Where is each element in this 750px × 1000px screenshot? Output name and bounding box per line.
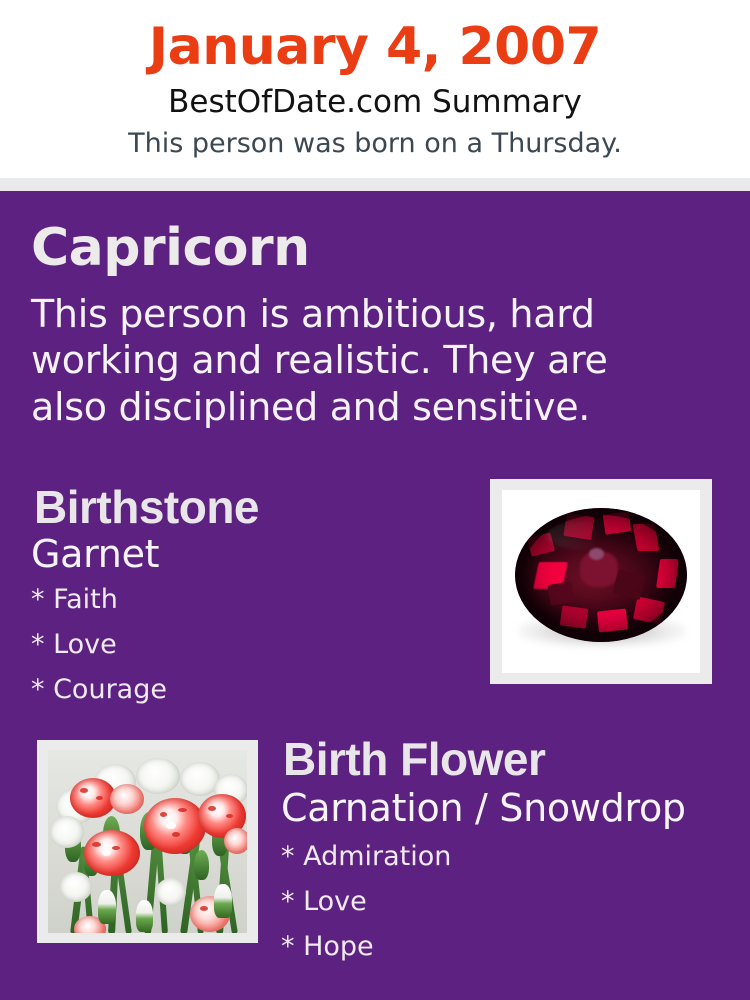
page-title: January 4, 2007 [0,20,750,75]
birth-flower-traits-list: * Admiration * Love * Hope [281,843,701,978]
list-item: * Admiration [281,843,701,870]
header-section: January 4, 2007 BestOfDate.com Summary T… [0,0,750,178]
zodiac-sign-heading: Capricorn [31,221,310,276]
list-item: * Courage [31,676,361,703]
birthstone-heading: Birthstone [34,483,259,531]
content-section: Capricorn This person is ambitious, hard… [0,191,750,1000]
birth-day-note: This person was born on a Thursday. [0,128,750,160]
birth-flower-heading: Birth Flower [283,735,545,783]
carnation-bouquet-icon [48,750,247,933]
list-item: * Hope [281,933,701,960]
birth-flower-image-frame [37,740,258,943]
birthstone-name: Garnet [31,534,159,576]
birthstone-image-frame [490,479,712,684]
garnet-gemstone-icon [502,490,700,673]
list-item: * Love [31,631,361,658]
summary-card: January 4, 2007 BestOfDate.com Summary T… [0,0,750,1000]
list-item: * Faith [31,586,361,613]
header-divider-upper [0,178,750,185]
birth-flower-name: Carnation / Snowdrop [281,788,686,830]
site-summary-label: BestOfDate.com Summary [0,84,750,121]
birthstone-traits-list: * Faith * Love * Courage [31,586,361,721]
zodiac-description: This person is ambitious, hard working a… [31,291,661,430]
list-item: * Love [281,888,701,915]
